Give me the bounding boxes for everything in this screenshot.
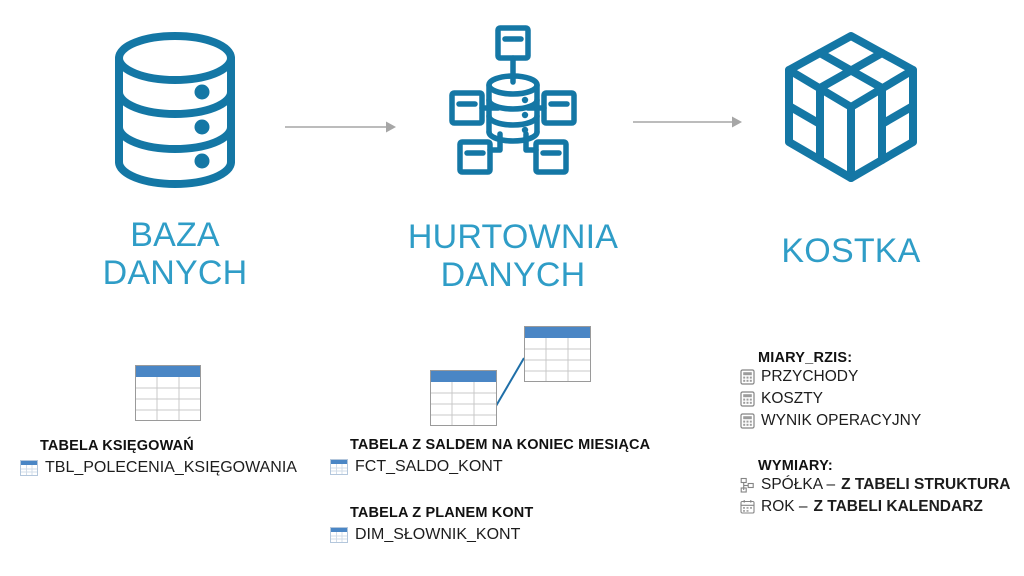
group-wymiary: WYMIARY: SPÓŁKA – Z TABELI STRUKTURA (740, 458, 1024, 518)
left-table-graphic (0, 355, 340, 433)
pillar-title: HURTOWNIA DANYCH (393, 218, 633, 294)
diagram-canvas: BAZA DANYCH (0, 0, 1024, 576)
middle-table-graphic (330, 320, 720, 432)
middle-entry-1: TABELA Z PLANEM KONT DIM_SŁOWNIK_KONT (330, 504, 720, 546)
middle-column: TABELA Z SALDEM NA KONIEC MIESIĄCA FCT_S… (330, 320, 720, 546)
calendar-icon (740, 499, 755, 515)
dimension-source: Z TABELI STRUKTURA (841, 474, 1010, 496)
dimension-source: Z TABELI KALENDARZ (814, 496, 983, 518)
measure-label: WYNIK OPERACYJNY (761, 410, 921, 432)
dimension-label: ROK – (761, 496, 808, 518)
table-icon (330, 527, 348, 543)
entry-row: TBL_POLECENIA_KSIĘGOWANIA (20, 457, 340, 479)
entry-title: TABELA Z PLANEM KONT (350, 504, 720, 524)
calculator-icon (740, 369, 755, 385)
measure-label: PRZYCHODY (761, 366, 858, 388)
hierarchy-icon (740, 477, 755, 493)
olap-cube-icon (777, 28, 925, 188)
arrow-right-icon (633, 112, 743, 132)
entry-row: FCT_SALDO_KONT (330, 456, 720, 478)
entry-name: DIM_SŁOWNIK_KONT (355, 524, 520, 546)
entry-row: DIM_SŁOWNIK_KONT (330, 524, 720, 546)
left-column: TABELA KSIĘGOWAŃ TBL_POLECENIA_KSIĘGOWAN… (0, 355, 340, 479)
pillar-kostka: KOSTKA (731, 28, 971, 270)
single-table-icon (135, 365, 201, 421)
table-icon (20, 460, 38, 476)
arrow-right-icon (285, 117, 397, 137)
dimension-row: ROK – Z TABELI KALENDARZ (740, 496, 1024, 518)
database-cylinder-icon (105, 28, 245, 194)
measure-label: KOSZTY (761, 388, 823, 410)
spacer (330, 478, 720, 500)
entry-name: FCT_SALDO_KONT (355, 456, 503, 478)
dimension-label: SPÓŁKA – (761, 474, 835, 496)
data-warehouse-icon (438, 22, 588, 194)
group-heading: MIARY_RZIS: (758, 350, 1024, 366)
table-icon (431, 371, 497, 426)
group-heading: WYMIARY: (758, 458, 1024, 474)
pillar-hurtownia-danych: HURTOWNIA DANYCH (393, 22, 633, 294)
entry-title: TABELA KSIĘGOWAŃ (40, 437, 340, 457)
pillar-baza-danych: BAZA DANYCH (55, 28, 295, 292)
spacer (740, 432, 1024, 458)
group-miary: MIARY_RZIS: PRZYCHODY (740, 350, 1024, 432)
middle-entry-0: TABELA Z SALDEM NA KONIEC MIESIĄCA FCT_S… (330, 436, 720, 478)
pillar-title: BAZA DANYCH (55, 216, 295, 292)
measure-row: PRZYCHODY (740, 366, 1024, 388)
entry-name: TBL_POLECENIA_KSIĘGOWANIA (45, 457, 297, 479)
dimension-row: SPÓŁKA – Z TABELI STRUKTURA (740, 474, 1024, 496)
measure-row: KOSZTY (740, 388, 1024, 410)
two-linked-tables-icon (416, 320, 676, 432)
calculator-icon (740, 391, 755, 407)
table-icon (525, 327, 591, 382)
entry-title: TABELA Z SALDEM NA KONIEC MIESIĄCA (350, 436, 720, 456)
right-column: MIARY_RZIS: PRZYCHODY (740, 350, 1024, 518)
pillar-title: KOSTKA (731, 232, 971, 270)
table-icon (330, 459, 348, 475)
measure-row: WYNIK OPERACYJNY (740, 410, 1024, 432)
calculator-icon (740, 413, 755, 429)
left-entry-0: TABELA KSIĘGOWAŃ TBL_POLECENIA_KSIĘGOWAN… (0, 437, 340, 479)
